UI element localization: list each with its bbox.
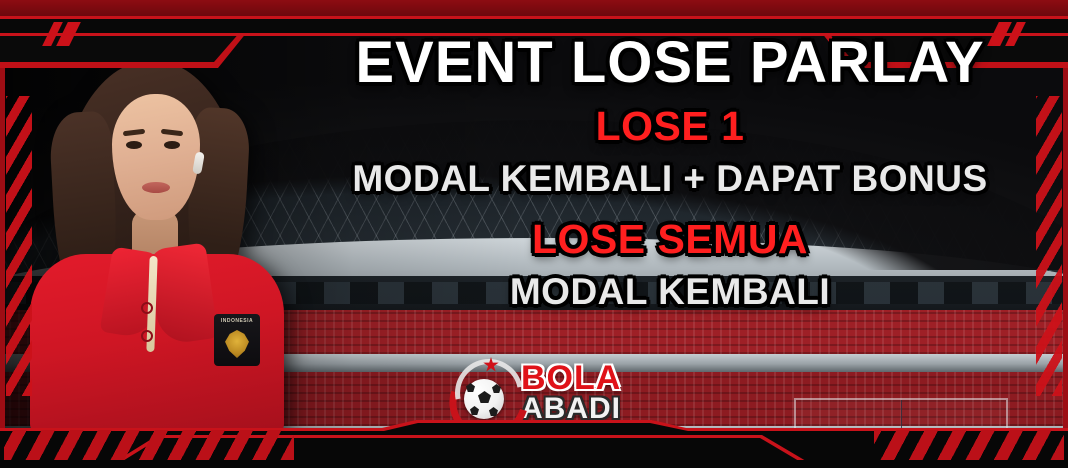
top-band (0, 0, 1068, 16)
jacket-badge-label: INDONESIA (214, 318, 260, 324)
model-photo: INDONESIA (28, 42, 286, 434)
ball-panel (470, 406, 479, 415)
model-eye-left (126, 141, 142, 149)
logo-mark (447, 357, 519, 429)
soccer-ball-icon (464, 379, 504, 419)
ball-panel (478, 391, 491, 403)
logo-name-secondary: ABADI (521, 395, 621, 424)
top-black-band (0, 19, 1068, 33)
logo-name-primary: BOLA (521, 363, 621, 394)
side-rail-left (0, 0, 5, 468)
garuda-emblem-icon (224, 330, 250, 358)
jacket-button-bottom (141, 330, 153, 342)
slash-marks-top-left (48, 22, 75, 46)
jacket-button-top (141, 302, 153, 314)
model-eye-right (164, 141, 180, 149)
bottom-floor-band (0, 460, 1068, 468)
stripes-right (1036, 96, 1062, 396)
top-accent-line-2 (0, 33, 1068, 36)
logo-wordmark: BOLA ABADI (521, 363, 621, 424)
stripes-bottom-left (4, 430, 294, 460)
jacket-badge: INDONESIA (214, 314, 260, 366)
stripes-bottom-right (874, 430, 1064, 460)
slash-marks-top-right (993, 22, 1020, 46)
brand-logo[interactable]: BOLA ABADI (447, 357, 637, 429)
side-rail-right (1063, 0, 1068, 468)
model-face (112, 94, 200, 220)
model-lips (142, 182, 170, 193)
stripes-left (6, 96, 32, 396)
promo-banner[interactable]: INDONESIA EVENT LOSE PARLAY LOSE 1 MODAL… (0, 0, 1068, 468)
